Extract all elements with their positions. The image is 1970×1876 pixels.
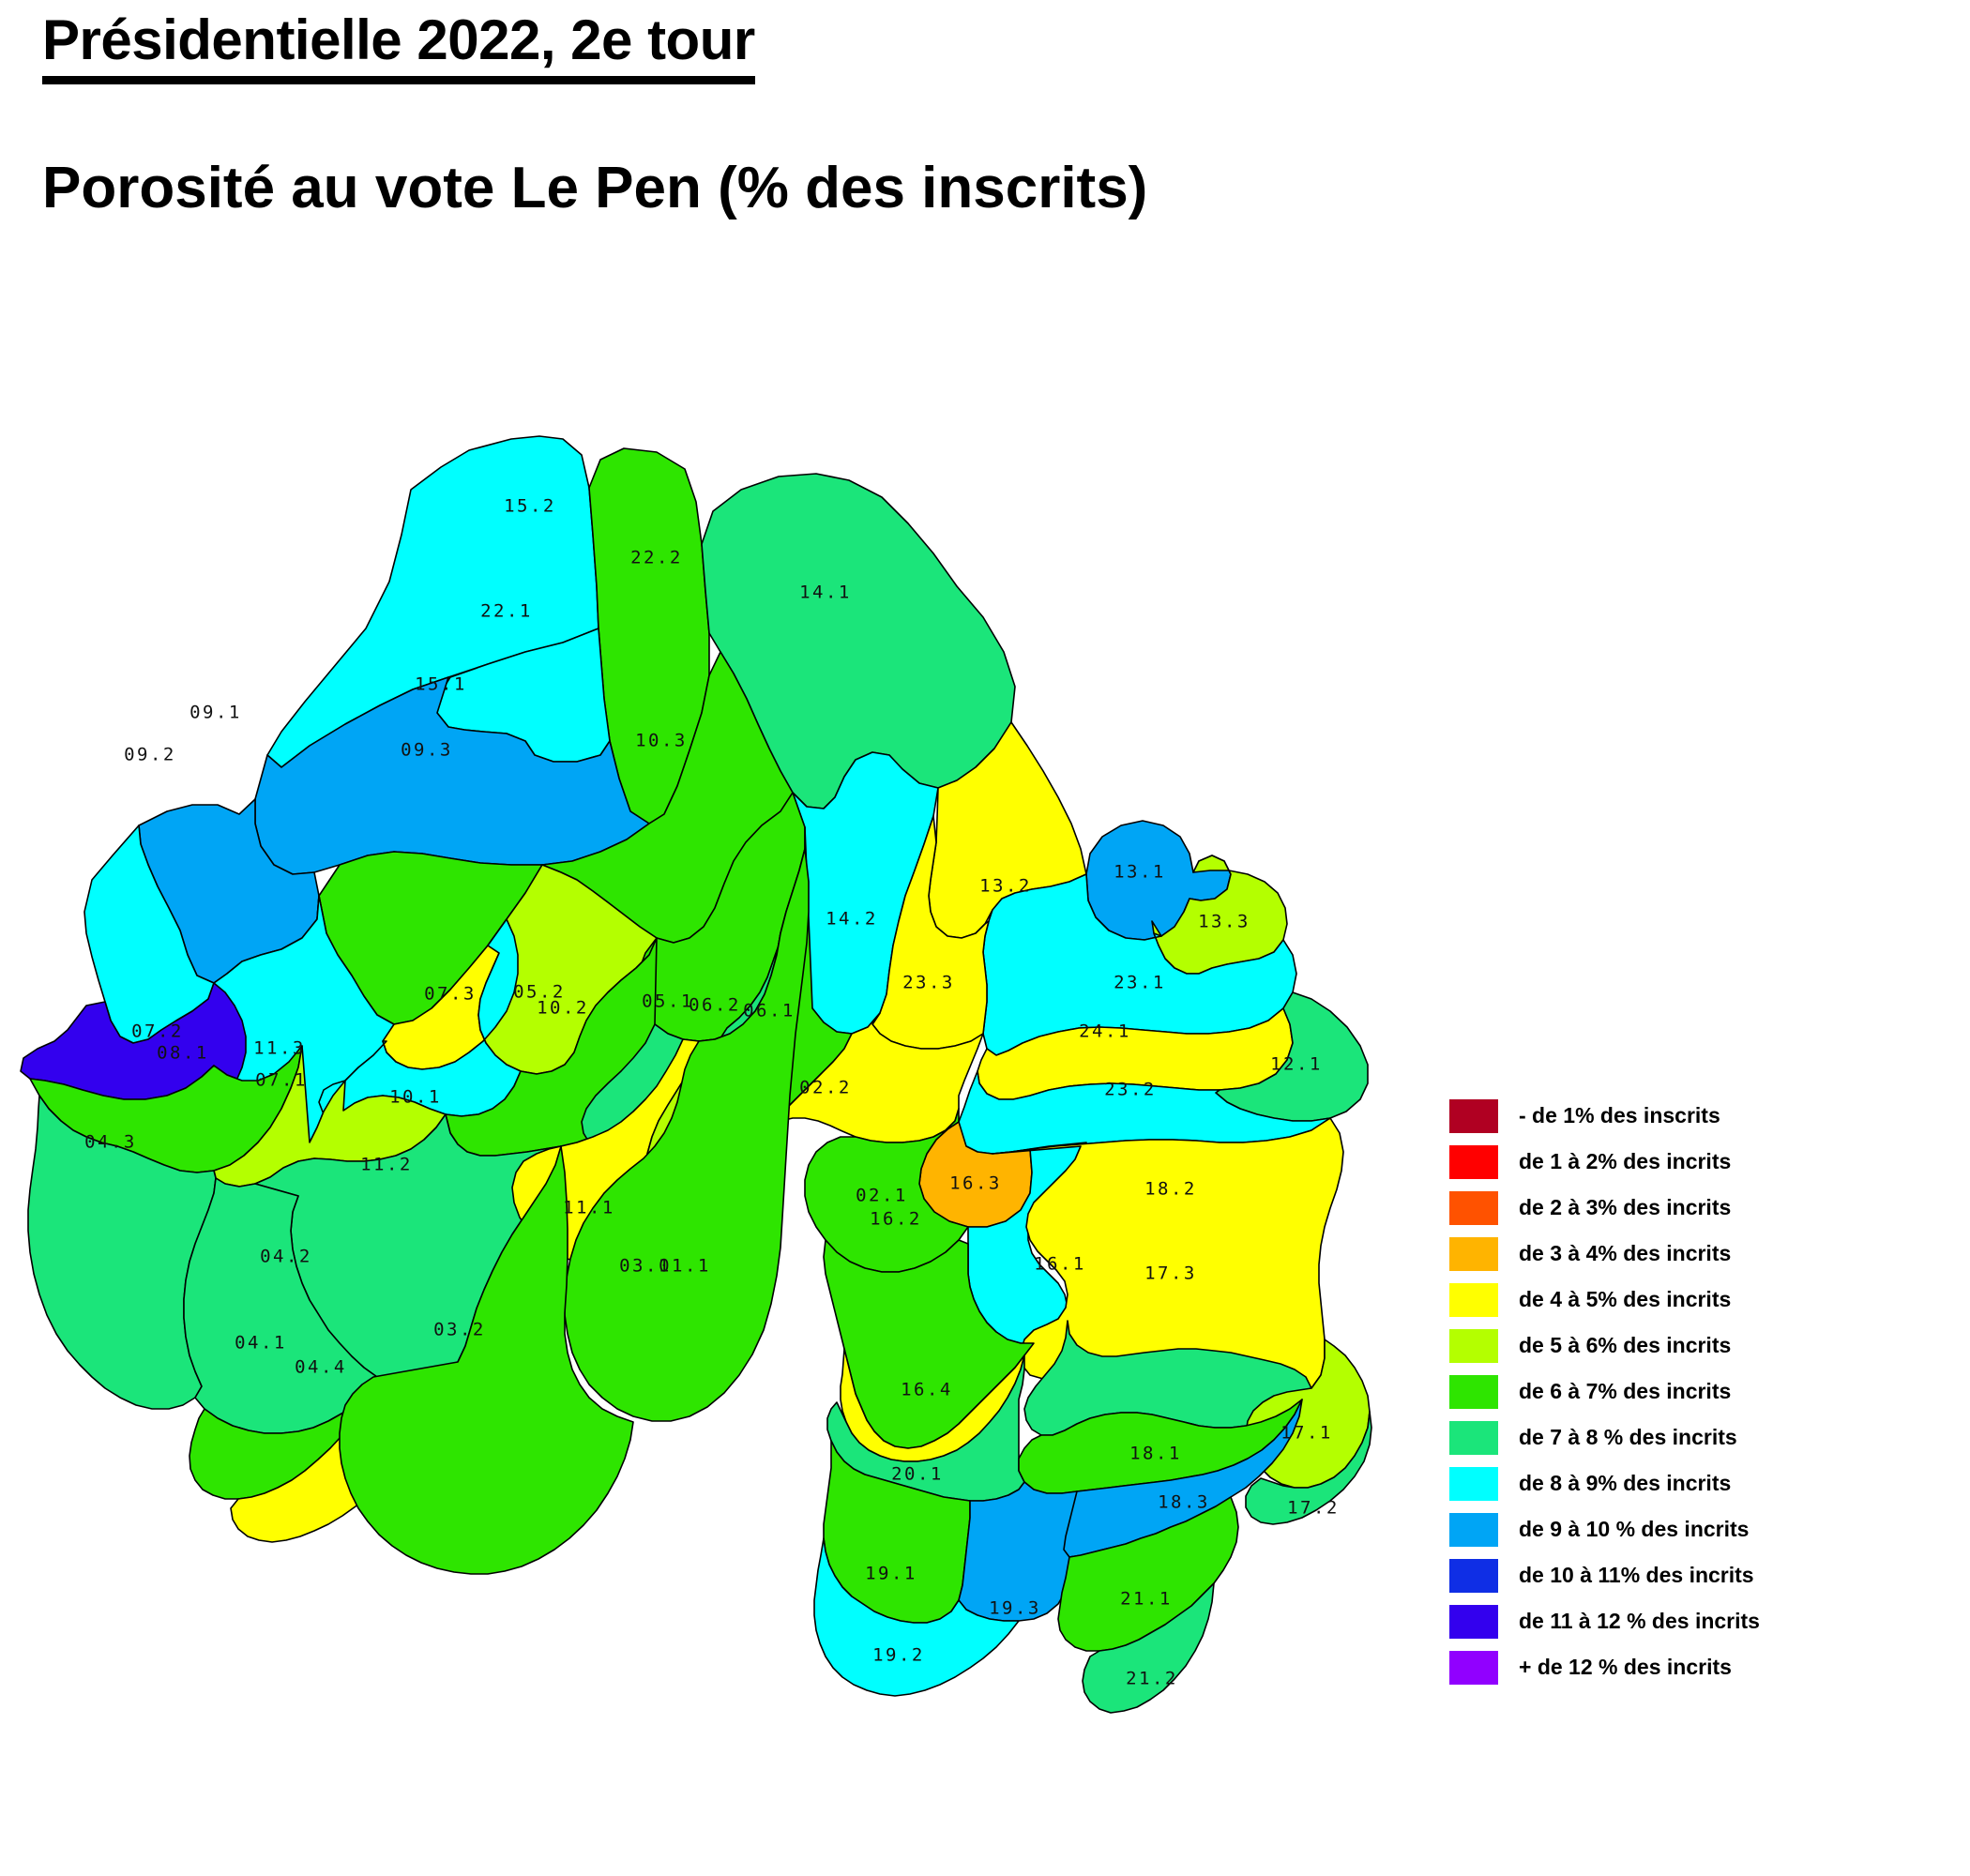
legend-swatch (1449, 1513, 1498, 1547)
legend-label: + de 12 % des incrits (1519, 1655, 1732, 1680)
legend-label: de 3 à 4% des incrits (1519, 1241, 1731, 1266)
legend-swatch (1449, 1421, 1498, 1455)
legend-label: de 1 à 2% des incrits (1519, 1149, 1731, 1174)
legend-swatch (1449, 1559, 1498, 1593)
legend-label: de 11 à 12 % des incrits (1519, 1609, 1760, 1634)
legend-item: de 2 à 3% des incrits (1449, 1185, 1956, 1231)
legend: - de 1% des inscritsde 1 à 2% des incrit… (1449, 1093, 1956, 1690)
legend-label: de 8 à 9% des incrits (1519, 1471, 1731, 1496)
legend-swatch (1449, 1283, 1498, 1317)
legend-swatch (1449, 1329, 1498, 1363)
legend-swatch (1449, 1375, 1498, 1409)
legend-item: de 4 à 5% des incrits (1449, 1277, 1956, 1323)
district-label: 09.1 (189, 703, 242, 723)
map-svg: 15.222.222.114.115.109.109.209.310.314.2… (0, 431, 1407, 1820)
legend-label: de 4 à 5% des incrits (1519, 1287, 1731, 1312)
legend-label: de 10 à 11% des incrits (1519, 1563, 1754, 1588)
district-label: 09.2 (124, 745, 176, 765)
legend-swatch (1449, 1237, 1498, 1271)
legend-item: de 6 à 7% des incrits (1449, 1369, 1956, 1415)
page-title: Présidentielle 2022, 2e tour (42, 8, 755, 84)
legend-item: de 5 à 6% des incrits (1449, 1323, 1956, 1369)
legend-item: de 11 à 12 % des incrits (1449, 1598, 1956, 1644)
map-district[interactable] (959, 1482, 1077, 1621)
legend-item: - de 1% des inscrits (1449, 1093, 1956, 1139)
legend-label: de 2 à 3% des incrits (1519, 1195, 1731, 1220)
legend-label: de 9 à 10 % des incrits (1519, 1517, 1749, 1542)
legend-item: de 9 à 10 % des incrits (1449, 1506, 1956, 1552)
legend-item: de 10 à 11% des incrits (1449, 1552, 1956, 1598)
legend-item: de 3 à 4% des incrits (1449, 1231, 1956, 1277)
legend-swatch (1449, 1651, 1498, 1685)
legend-swatch (1449, 1145, 1498, 1179)
legend-item: de 7 à 8 % des incrits (1449, 1415, 1956, 1460)
legend-item: de 1 à 2% des incrits (1449, 1139, 1956, 1185)
page-subtitle: Porosité au vote Le Pen (% des inscrits) (42, 155, 1147, 221)
legend-label: de 7 à 8 % des incrits (1519, 1425, 1737, 1450)
title-block: Présidentielle 2022, 2e tour (42, 8, 755, 84)
legend-item: + de 12 % des incrits (1449, 1644, 1956, 1690)
legend-label: - de 1% des inscrits (1519, 1103, 1720, 1128)
legend-item: de 8 à 9% des incrits (1449, 1460, 1956, 1506)
legend-label: de 6 à 7% des incrits (1519, 1379, 1731, 1404)
legend-swatch (1449, 1191, 1498, 1225)
legend-swatch (1449, 1467, 1498, 1501)
legend-label: de 5 à 6% des incrits (1519, 1333, 1731, 1358)
choropleth-map: 15.222.222.114.115.109.109.209.310.314.2… (0, 431, 1407, 1820)
legend-swatch (1449, 1099, 1498, 1133)
legend-swatch (1449, 1605, 1498, 1639)
